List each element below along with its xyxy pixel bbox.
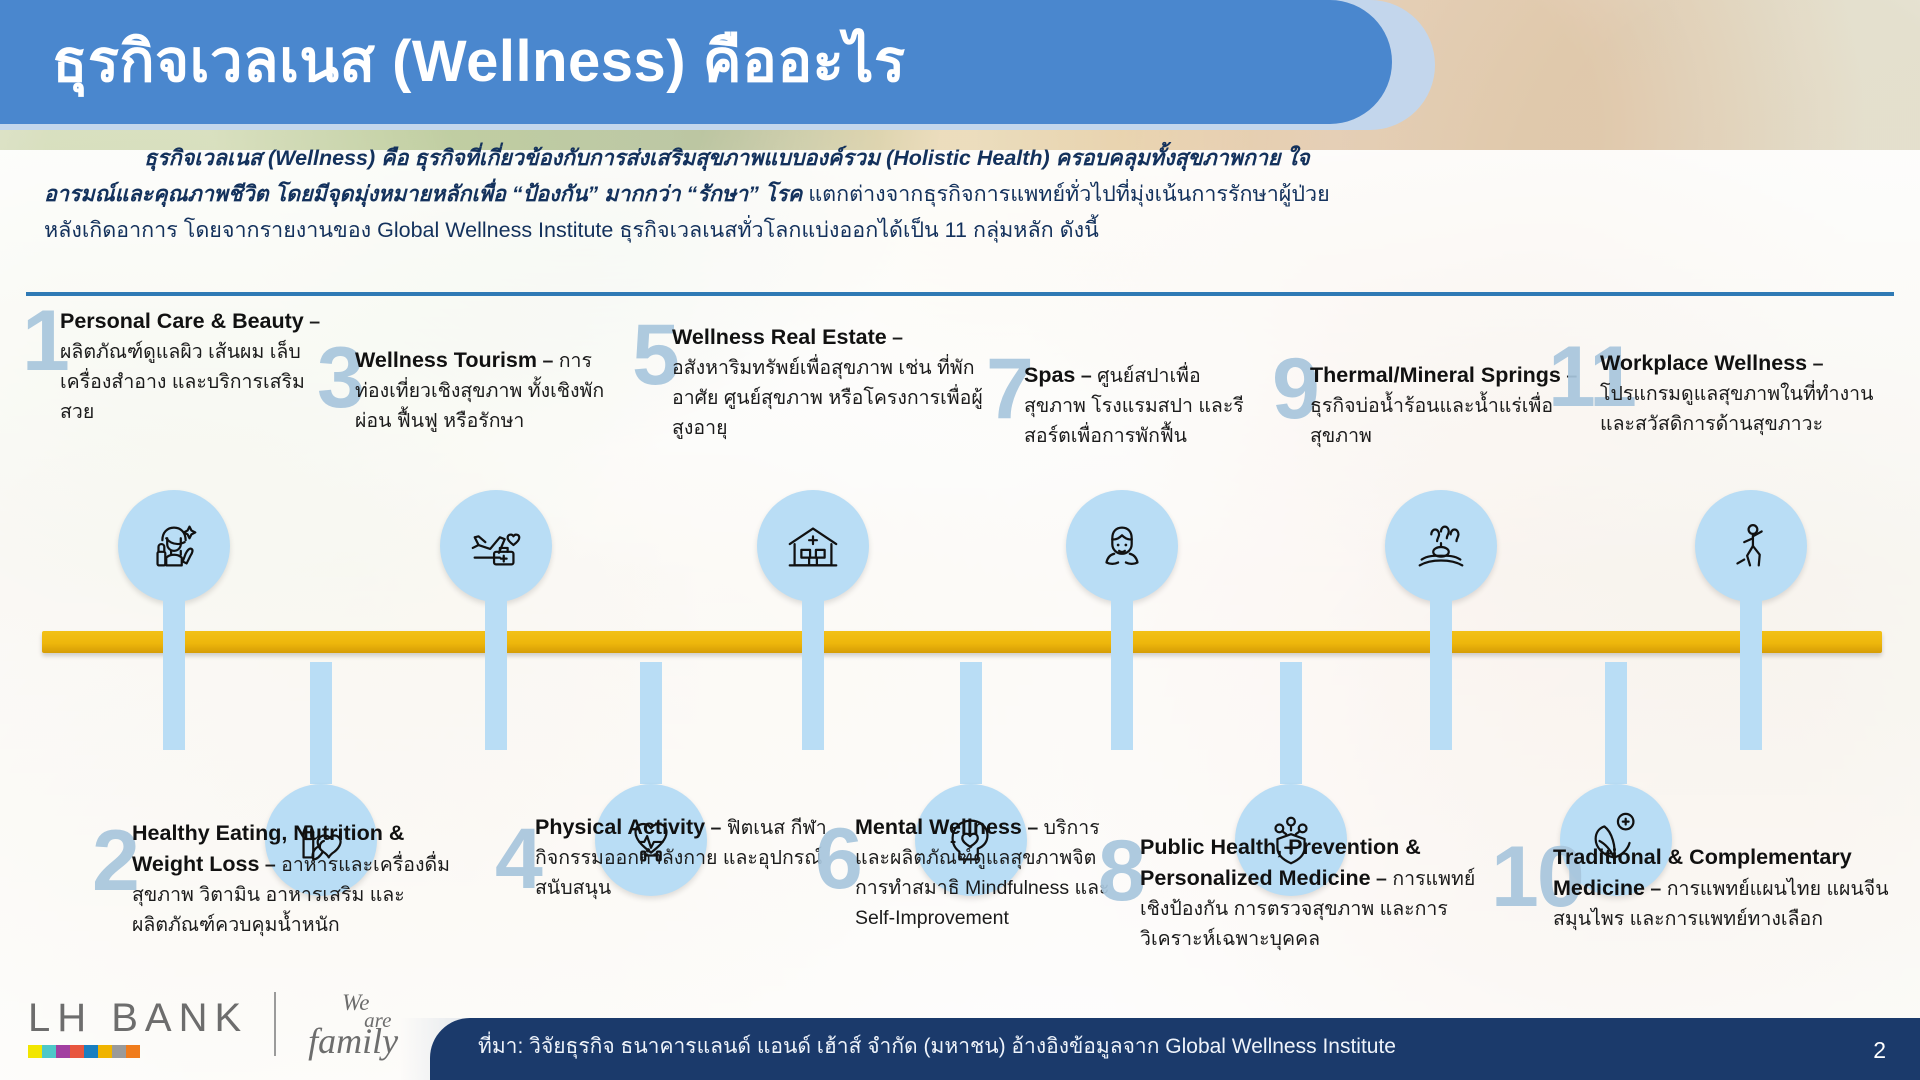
item-number-6: 6 xyxy=(815,816,861,902)
item-title-9: Thermal/Mineral Springs xyxy=(1310,363,1561,387)
intro-line-2-plain: แตกต่างจากธุรกิจการแพทย์ทั่วไปที่มุ่งเน้… xyxy=(808,182,1329,206)
item-number-4: 4 xyxy=(495,816,541,902)
node-stem-6 xyxy=(960,662,982,784)
logo-swatch xyxy=(56,1045,70,1058)
node-stem-5 xyxy=(802,598,824,750)
page-title: ธุรกิจเวลเนส (Wellness) คืออะไร xyxy=(0,32,906,93)
node-stem-1 xyxy=(163,598,185,750)
node-circle-11[interactable] xyxy=(1695,490,1807,602)
intro-paragraph: ธุรกิจเวลเนส (Wellness) คือ ธุรกิจที่เกี… xyxy=(44,140,1884,248)
beauty-cosmetics-icon xyxy=(143,515,205,577)
item-title-7: Spas xyxy=(1024,363,1075,387)
node-circle-1[interactable] xyxy=(118,490,230,602)
node-7[interactable] xyxy=(1066,490,1178,602)
node-circle-5[interactable] xyxy=(757,490,869,602)
lh-bank-color-swatches xyxy=(28,1045,248,1058)
node-9[interactable] xyxy=(1385,490,1497,602)
lh-bank-wordmark: LH BANK xyxy=(28,998,248,1038)
item-dash-8: – xyxy=(1376,868,1387,890)
logo-swatch xyxy=(28,1045,42,1058)
logo-swatch xyxy=(84,1045,98,1058)
logo-swatch xyxy=(126,1045,140,1058)
header-bar: ธุรกิจเวลเนส (Wellness) คืออะไร xyxy=(0,0,1392,124)
slide-root: ธุรกิจเวลเนส (Wellness) คืออะไร ธุรกิจเว… xyxy=(0,0,1920,1080)
logo-swatch xyxy=(70,1045,84,1058)
node-stem-11 xyxy=(1740,598,1762,750)
item-desc-11: โปรแกรมดูแลสุขภาพในที่ทำงานและสวัสดิการด… xyxy=(1600,383,1873,435)
item-text-11: 11 Workplace Wellness – โปรแกรมดูแลสุขภา… xyxy=(1600,348,1900,439)
we-are-family-tagline: We are family xyxy=(302,992,450,1058)
tagline-family: family xyxy=(308,1020,398,1062)
timeline-bar xyxy=(42,631,1882,653)
logo-swatch xyxy=(112,1045,126,1058)
wellness-building-icon xyxy=(782,515,844,577)
node-circle-3[interactable] xyxy=(440,490,552,602)
item-dash-3: – xyxy=(542,350,553,372)
item-text-1: 1 Personal Care & Beauty – ผลิตภัณฑ์ดูแล… xyxy=(60,306,328,427)
item-text-5: 5 Wellness Real Estate – อสังหาริมทรัพย์… xyxy=(672,322,984,443)
node-circle-7[interactable] xyxy=(1066,490,1178,602)
item-title-5: Wellness Real Estate xyxy=(672,325,887,349)
node-stem-7 xyxy=(1111,598,1133,750)
item-title-6: Mental Wellness xyxy=(855,815,1022,839)
item-text-2: 2 Healthy Eating, Nutrition & Weight Los… xyxy=(132,818,480,940)
item-desc-1: ผลิตภัณฑ์ดูแลผิว เส้นผม เล็บ เครื่องสำอา… xyxy=(60,341,305,423)
page-number: 2 xyxy=(1873,1037,1886,1064)
node-stem-9 xyxy=(1430,598,1452,750)
node-stem-2 xyxy=(310,662,332,784)
node-stem-3 xyxy=(485,598,507,750)
item-number-8: 8 xyxy=(1098,828,1144,914)
lh-bank-logo: LH BANK We are family xyxy=(28,992,450,1058)
item-text-9: 9 Thermal/Mineral Springs – ธุรกิจบ่อน้ำ… xyxy=(1310,360,1582,451)
footer-source-text: ที่มา: วิจัยธุรกิจ ธนาคารแลนด์ แอนด์ เฮ้… xyxy=(478,1030,1396,1063)
item-desc-9: ธุรกิจบ่อน้ำร้อนและน้ำแร่เพื่อสุขภาพ xyxy=(1310,395,1553,447)
node-circle-9[interactable] xyxy=(1385,490,1497,602)
node-stem-4 xyxy=(640,662,662,784)
node-5[interactable] xyxy=(757,490,869,602)
logo-swatch xyxy=(42,1045,56,1058)
workplace-stretch-icon xyxy=(1720,515,1782,577)
item-number-5: 5 xyxy=(632,312,678,398)
intro-line-1: ธุรกิจเวลเนส (Wellness) คือ ธุรกิจที่เกี… xyxy=(144,146,1310,170)
item-dash-11: – xyxy=(1813,353,1824,375)
item-dash-6: – xyxy=(1027,817,1038,839)
intro-line-3: หลังเกิดอาการ โดยจากรายงานของ Global Wel… xyxy=(44,218,1099,242)
header: ธุรกิจเวลเนส (Wellness) คืออะไร xyxy=(0,0,1465,132)
item-title-1: Personal Care & Beauty xyxy=(60,309,304,333)
item-dash-4: – xyxy=(711,817,722,839)
item-dash-2: – xyxy=(265,854,276,876)
item-title-3: Wellness Tourism xyxy=(355,348,537,372)
intro-line-2-bold: อารมณ์และคุณภาพชีวิต โดยมีจุดมุ่งหมายหลั… xyxy=(44,182,808,206)
item-text-10: 10 Traditional & Complementary Medicine … xyxy=(1553,842,1903,934)
item-desc-5: อสังหาริมทรัพย์เพื่อสุขภาพ เช่น ที่พักอา… xyxy=(672,357,983,439)
spa-face-hands-icon xyxy=(1091,515,1153,577)
node-11[interactable] xyxy=(1695,490,1807,602)
hot-spring-icon xyxy=(1410,515,1472,577)
divider-rule xyxy=(26,292,1894,296)
item-text-8: 8 Public Health, Prevention & Personaliz… xyxy=(1140,832,1478,954)
logo-swatch xyxy=(98,1045,112,1058)
node-stem-8 xyxy=(1280,662,1302,784)
node-3[interactable] xyxy=(440,490,552,602)
item-text-7: 7 Spas – ศูนย์สปาเพื่อสุขภาพ โรงแรมสปา แ… xyxy=(1024,360,1252,451)
item-dash-10: – xyxy=(1650,878,1661,900)
node-stem-10 xyxy=(1605,662,1627,784)
item-text-3: 3 Wellness Tourism – การท่องเที่ยวเชิงสุ… xyxy=(355,345,605,436)
item-number-2: 2 xyxy=(92,818,138,904)
item-dash-5: – xyxy=(892,327,903,349)
logo-divider xyxy=(274,992,276,1056)
item-text-4: 4 Physical Activity – ฟิตเนส กีฬา กิจกรร… xyxy=(535,812,835,903)
node-1[interactable] xyxy=(118,490,230,602)
item-text-6: 6 Mental Wellness – บริการและผลิตภัณฑ์ดู… xyxy=(855,812,1115,933)
item-title-11: Workplace Wellness xyxy=(1600,351,1807,375)
item-dash-7: – xyxy=(1081,365,1092,387)
item-title-4: Physical Activity xyxy=(535,815,705,839)
background-veil xyxy=(0,150,1920,1080)
travel-wellness-icon xyxy=(465,515,527,577)
